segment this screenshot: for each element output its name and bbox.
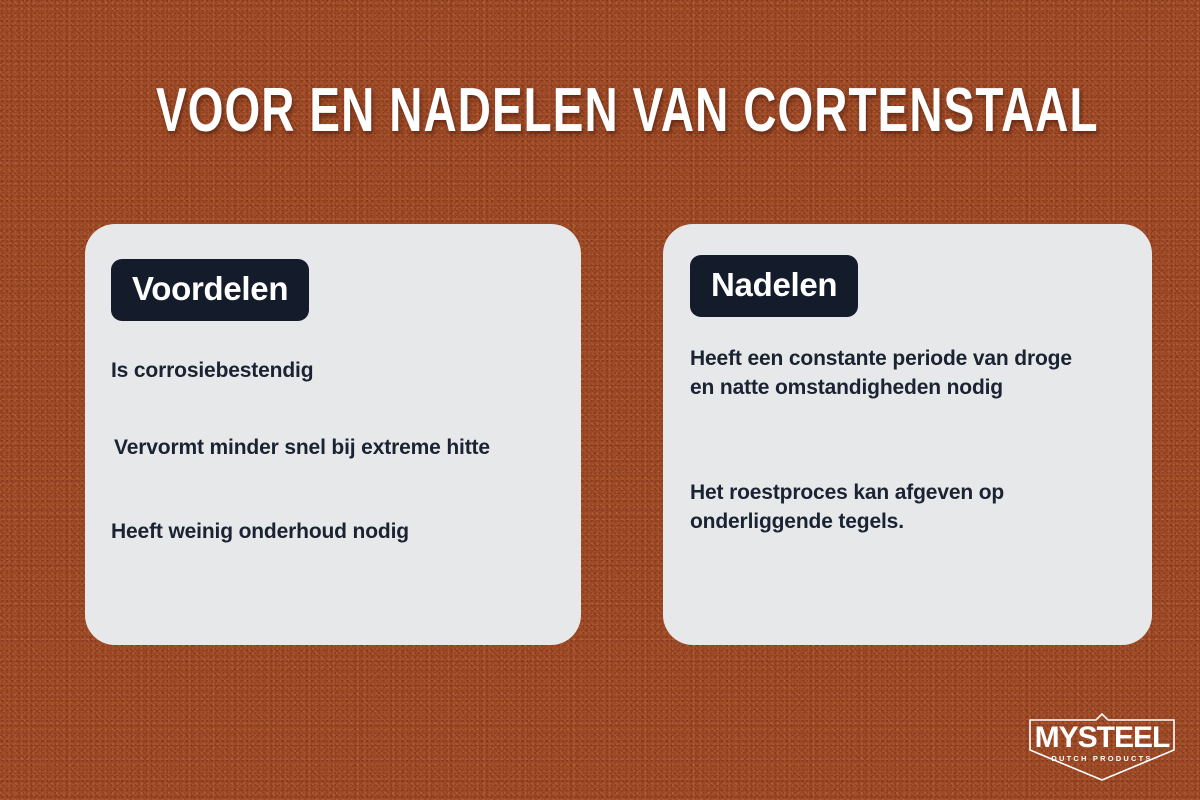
badge-voordelen: Voordelen: [111, 259, 309, 321]
list-item: Heeft weinig onderhoud nodig: [111, 517, 543, 546]
card-nadelen: Nadelen Heeft een constante periode van …: [663, 224, 1152, 645]
logo-tagline: DUTCH PRODUCTS: [1051, 754, 1152, 763]
logo-wordmark: MYSTEEL: [1035, 721, 1170, 754]
list-nadelen: Heeft een constante periode van droge en…: [690, 344, 1090, 536]
list-item: Vervormt minder snel bij extreme hitte: [111, 433, 543, 462]
page-title: Voor en nadelen van cortenstaal: [156, 80, 1044, 142]
mysteel-logo: MYSTEEL DUTCH PRODUCTS: [1022, 706, 1182, 784]
list-voordelen: Is corrosiebestendig Vervormt minder sne…: [111, 356, 543, 546]
badge-nadelen: Nadelen: [690, 255, 858, 317]
list-item: Het roestproces kan afgeven op onderligg…: [690, 478, 1090, 536]
list-item: Heeft een constante periode van droge en…: [690, 344, 1090, 402]
list-item: Is corrosiebestendig: [111, 356, 543, 385]
card-voordelen: Voordelen Is corrosiebestendig Vervormt …: [85, 224, 581, 645]
